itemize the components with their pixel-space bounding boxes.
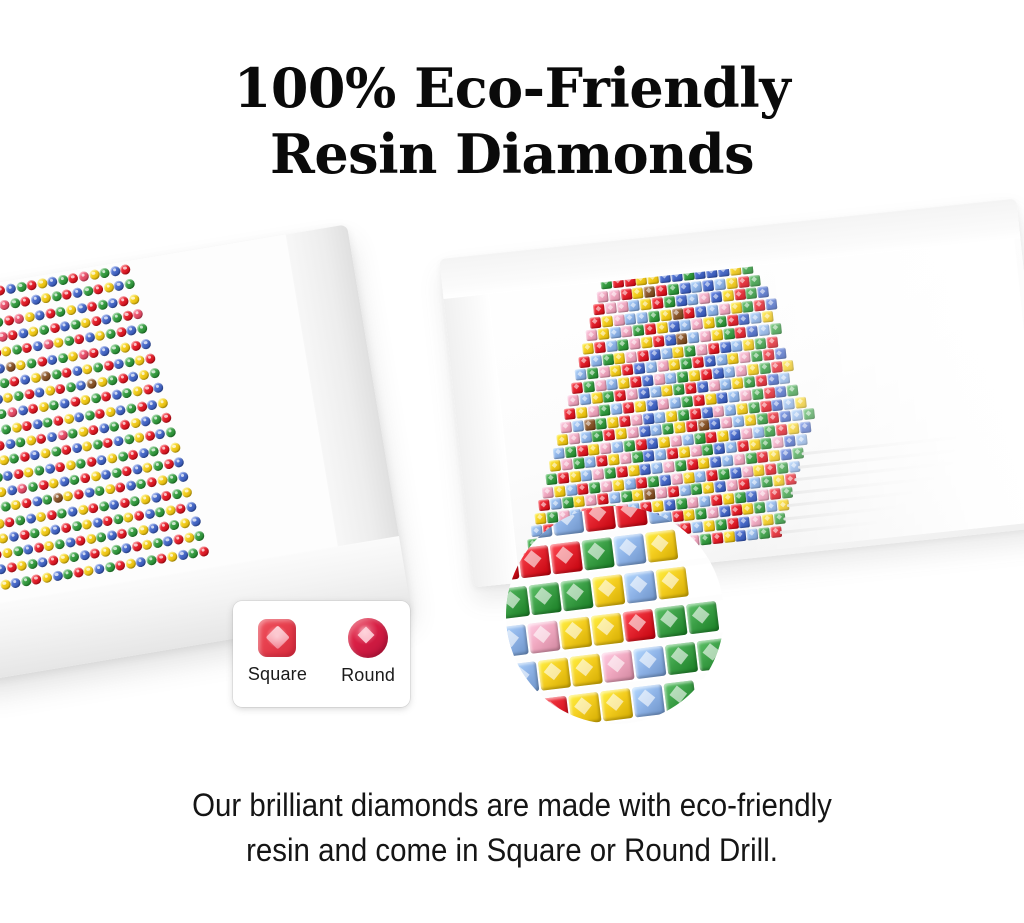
round-drill (50, 446, 62, 458)
round-drill (21, 420, 33, 432)
round-drill (148, 523, 160, 535)
square-drill (661, 385, 673, 397)
round-drill (12, 545, 24, 557)
round-drill (82, 286, 94, 298)
square-drill (757, 489, 769, 501)
round-drill (93, 563, 105, 575)
round-drill (52, 570, 64, 582)
square-drill (647, 437, 659, 449)
round-drill (130, 417, 142, 429)
round-drill (126, 325, 138, 337)
round-drill (105, 406, 117, 418)
round-drill (63, 335, 75, 347)
square-drill (603, 429, 615, 441)
round-drill (76, 302, 88, 314)
square-drill (739, 351, 751, 363)
round-drill (94, 408, 106, 420)
square-drill (705, 431, 717, 443)
square-drill (776, 462, 788, 474)
square-drill (622, 364, 634, 376)
square-drill (696, 343, 708, 355)
round-drill (113, 436, 125, 448)
square-drill (645, 361, 657, 373)
square-drill (783, 398, 795, 410)
square-drill (583, 418, 595, 430)
square-drill (641, 374, 653, 386)
square-drill (642, 412, 654, 424)
round-drill (8, 531, 20, 543)
square-drill (659, 474, 671, 486)
square-drill (597, 493, 609, 505)
round-drill (136, 478, 148, 490)
round-drill (163, 458, 175, 470)
product-infographic: 100% Eco-Friendly Resin Diamonds Square … (0, 0, 1024, 923)
square-drill (711, 329, 723, 341)
round-drill (107, 374, 119, 386)
square-drill (754, 337, 766, 349)
square-drill (666, 410, 678, 422)
round-drill (135, 556, 147, 568)
round-drill (10, 499, 22, 511)
square-drill (699, 292, 711, 304)
round-drill (110, 545, 122, 557)
round-drill (159, 443, 171, 455)
round-drill (28, 326, 40, 338)
round-drill (98, 500, 110, 512)
square-drill (586, 330, 598, 342)
square-drill (630, 376, 642, 388)
magnified-square-drill (581, 537, 614, 570)
magnified-square-drill (591, 613, 624, 646)
round-drill (111, 312, 123, 324)
square-drill (644, 323, 656, 335)
round-drill (173, 534, 185, 546)
round-drill (17, 327, 29, 339)
round-drill (10, 577, 22, 589)
square-drill (588, 443, 600, 455)
square-drill (612, 479, 624, 491)
square-drill (760, 438, 772, 450)
square-drill (733, 453, 745, 465)
round-drill (75, 535, 87, 547)
square-drill (765, 501, 777, 513)
round-drill (16, 560, 28, 572)
square-drill (715, 354, 727, 366)
square-drill (744, 414, 756, 426)
round-drill (97, 299, 109, 311)
square-drill (660, 347, 672, 359)
square-drill (712, 367, 724, 379)
square-drill (651, 462, 663, 474)
square-drill (664, 334, 676, 346)
round-drill (142, 384, 154, 396)
square-drill (749, 274, 761, 286)
square-drill (600, 480, 612, 492)
square-drill (749, 477, 761, 489)
round-drill (38, 324, 50, 336)
empty-channel (783, 505, 903, 521)
square-drill (704, 355, 716, 367)
square-drill (728, 391, 740, 403)
round-drill (101, 313, 113, 325)
square-drill (567, 395, 579, 407)
square-drill (556, 434, 568, 446)
legend-item-round[interactable]: Round (341, 618, 395, 686)
round-drill (89, 548, 101, 560)
round-drill (137, 525, 149, 537)
square-drill (799, 421, 811, 433)
square-drill (695, 305, 707, 317)
round-drill (61, 289, 73, 301)
round-drill (161, 412, 173, 424)
square-drill (689, 407, 701, 419)
round-drill (190, 516, 202, 528)
square-drill (577, 483, 589, 495)
square-drill (732, 378, 744, 390)
round-drill (117, 450, 129, 462)
square-drill (754, 299, 766, 311)
square-drill (730, 504, 742, 516)
headline-line-2: Resin Diamonds (0, 121, 1024, 187)
square-drill (584, 456, 596, 468)
square-drill (630, 414, 642, 426)
round-drill (53, 337, 65, 349)
square-drill (595, 417, 607, 429)
round-drill (33, 464, 45, 476)
square-drill (714, 278, 726, 290)
round-drill (23, 466, 35, 478)
square-drill (608, 454, 620, 466)
square-drill (557, 472, 569, 484)
square-drill (690, 281, 702, 293)
round-drill (85, 533, 97, 545)
round-drill (48, 400, 60, 412)
round-drill (0, 532, 9, 544)
square-drill (710, 291, 722, 303)
round-drill (96, 531, 108, 543)
round-drill (177, 549, 189, 561)
square-drill (718, 303, 730, 315)
square-drill (636, 312, 648, 324)
magnified-square-drill (633, 646, 666, 679)
round-drill (121, 543, 133, 555)
legend-label-square: Square (248, 664, 307, 685)
round-drill (46, 509, 58, 521)
round-drill (100, 469, 112, 481)
round-drill (31, 418, 43, 430)
round-drill (55, 306, 67, 318)
square-drill (775, 386, 787, 398)
magnified-square-drill (614, 506, 647, 528)
round-drill (0, 300, 10, 312)
round-drill (55, 383, 67, 395)
round-drill (104, 484, 116, 496)
square-drill (670, 435, 682, 447)
magnified-square-drill (601, 650, 634, 683)
round-drill (9, 298, 21, 310)
square-drill (745, 287, 757, 299)
magnified-square-drill (560, 578, 593, 611)
square-drill (616, 466, 628, 478)
round-drill (11, 422, 23, 434)
legend-item-square[interactable]: Square (248, 619, 307, 685)
square-drill (589, 317, 601, 329)
round-drill (134, 354, 146, 366)
round-drill (100, 391, 112, 403)
round-drill (40, 293, 52, 305)
square-drill (697, 419, 709, 431)
round-drill (21, 498, 33, 510)
square-drill (674, 422, 686, 434)
round-drill (29, 527, 41, 539)
round-drill (167, 473, 179, 485)
square-drill (564, 446, 576, 458)
square-drill (549, 460, 561, 472)
round-drill (119, 419, 131, 431)
square-drill (717, 430, 729, 442)
square-drill (713, 405, 725, 417)
round-drill (84, 409, 96, 421)
square-drill (723, 531, 735, 543)
round-drill (153, 382, 165, 394)
square-drill (723, 328, 735, 340)
round-drill (118, 295, 130, 307)
round-drill (56, 429, 68, 441)
square-drill (656, 322, 668, 334)
square-drill (759, 362, 771, 374)
round-drill (0, 423, 12, 435)
round-drill (123, 434, 135, 446)
round-drill (155, 429, 167, 441)
square-drill (699, 330, 711, 342)
square-drill (716, 392, 728, 404)
round-drill (41, 572, 53, 584)
square-drill (576, 445, 588, 457)
page-caption: Our brilliant diamonds are made with eco… (41, 783, 983, 873)
square-drill (734, 491, 746, 503)
round-drill (114, 559, 126, 571)
square-drill (688, 332, 700, 344)
square-drill (782, 360, 794, 372)
square-drill (743, 376, 755, 388)
round-drill (77, 426, 89, 438)
round-drill (25, 512, 37, 524)
square-drill (779, 411, 791, 423)
round-drill (169, 519, 181, 531)
square-drill (666, 448, 678, 460)
square-drill (677, 409, 689, 421)
round-drill (169, 442, 181, 454)
round-drill (165, 504, 177, 516)
round-drill (88, 424, 100, 436)
square-drill (632, 287, 644, 299)
square-drill (649, 348, 661, 360)
square-drill (741, 465, 753, 477)
square-drill (658, 436, 670, 448)
round-drill (165, 427, 177, 439)
square-drill (622, 402, 634, 414)
square-drill (575, 369, 587, 381)
round-drill (106, 452, 118, 464)
square-drill (674, 460, 686, 472)
square-drill (617, 339, 629, 351)
square-drill (599, 404, 611, 416)
square-drill (755, 375, 767, 387)
round-drill (132, 386, 144, 398)
square-drill (602, 353, 614, 365)
square-drill (634, 400, 646, 412)
round-drill (36, 355, 48, 367)
round-drill (136, 323, 148, 335)
round-drill (27, 403, 39, 415)
round-drill (34, 309, 46, 321)
square-drill (654, 411, 666, 423)
round-drill (86, 300, 98, 312)
square-drill (721, 455, 733, 467)
square-drill (624, 478, 636, 490)
magnified-square-drill (592, 574, 625, 607)
magnified-square-drill (518, 545, 551, 578)
square-drill (614, 390, 626, 402)
round-drill (71, 443, 83, 455)
round-drill (157, 397, 169, 409)
round-drill (100, 546, 112, 558)
round-drill (4, 438, 16, 450)
magnified-square-drill (646, 506, 679, 524)
square-drill (648, 310, 660, 322)
round-drill (5, 283, 17, 295)
square-drill (626, 389, 638, 401)
round-drill (134, 432, 146, 444)
round-drill (45, 307, 57, 319)
square-drill (561, 459, 573, 471)
square-drill (751, 388, 763, 400)
square-drill (611, 403, 623, 415)
square-drill (706, 469, 718, 481)
round-drill (44, 463, 56, 475)
square-drill (746, 490, 758, 502)
round-drill (48, 477, 60, 489)
square-drill (611, 441, 623, 453)
empty-channel (780, 520, 886, 534)
square-drill (679, 320, 691, 332)
round-drill (32, 341, 44, 353)
round-drill (59, 320, 71, 332)
magnified-square-drill (506, 624, 529, 657)
round-drill (37, 479, 49, 491)
magnified-square-drill (645, 529, 678, 562)
square-drill (708, 380, 720, 392)
square-drill (727, 353, 739, 365)
round-drill (44, 385, 56, 397)
round-drill (60, 522, 72, 534)
magnified-square-drill (528, 582, 561, 615)
round-drill (102, 437, 114, 449)
square-drill (742, 300, 754, 312)
square-drill (746, 325, 758, 337)
square-drill (598, 366, 610, 378)
round-drill (24, 311, 36, 323)
square-drill (765, 463, 777, 475)
round-drill (49, 322, 61, 334)
square-drill (784, 435, 796, 447)
square-drill (681, 396, 693, 408)
round-drill (104, 561, 116, 573)
round-drill (73, 489, 85, 501)
round-drill (152, 460, 164, 472)
square-drill (764, 425, 776, 437)
round-drill (12, 468, 24, 480)
round-drill (78, 271, 90, 283)
round-drill (58, 476, 70, 488)
square-drill (591, 392, 603, 404)
round-drill (19, 374, 31, 386)
round-drill (150, 491, 162, 503)
round-drill (20, 296, 32, 308)
round-drill (21, 342, 33, 354)
round-drill (26, 279, 38, 291)
round-drill (81, 518, 93, 530)
round-drill (120, 341, 132, 353)
square-drill (635, 438, 647, 450)
round-drill (22, 544, 34, 556)
square-drill (753, 464, 765, 476)
square-drill (748, 401, 760, 413)
round-drill (186, 501, 198, 513)
square-drill (766, 336, 778, 348)
magnified-square-drill (686, 601, 719, 634)
square-drill (724, 366, 736, 378)
square-drill (743, 338, 755, 350)
square-drill (787, 422, 799, 434)
square-drill (694, 432, 706, 444)
square-drill (721, 417, 733, 429)
round-drill (3, 314, 15, 326)
square-drill (751, 350, 763, 362)
magnified-square-drill (527, 620, 560, 653)
legend-label-round: Round (341, 665, 395, 686)
square-drill (704, 393, 716, 405)
round-drill (83, 487, 95, 499)
round-drill (128, 371, 140, 383)
square-drill (686, 458, 698, 470)
square-drill (671, 473, 683, 485)
square-drill (702, 279, 714, 291)
round-drill (127, 526, 139, 538)
round-drill (0, 362, 6, 374)
square-drill (773, 475, 785, 487)
round-drill (167, 551, 179, 563)
round-drill (34, 387, 46, 399)
round-drill (35, 511, 47, 523)
square-drill (769, 488, 781, 500)
square-drill (772, 437, 784, 449)
magnified-square-drill (506, 586, 530, 619)
round-drill (154, 506, 166, 518)
square-drill (553, 485, 565, 497)
square-drill (707, 342, 719, 354)
round-drill (61, 444, 73, 456)
square-drill (669, 359, 681, 371)
square-drill (580, 432, 592, 444)
square-drill (679, 484, 691, 496)
round-drill (71, 520, 83, 532)
magnified-square-drill (663, 680, 696, 713)
square-drill (637, 350, 649, 362)
round-drill (11, 344, 23, 356)
round-drill (19, 451, 31, 463)
square-drill (667, 486, 679, 498)
